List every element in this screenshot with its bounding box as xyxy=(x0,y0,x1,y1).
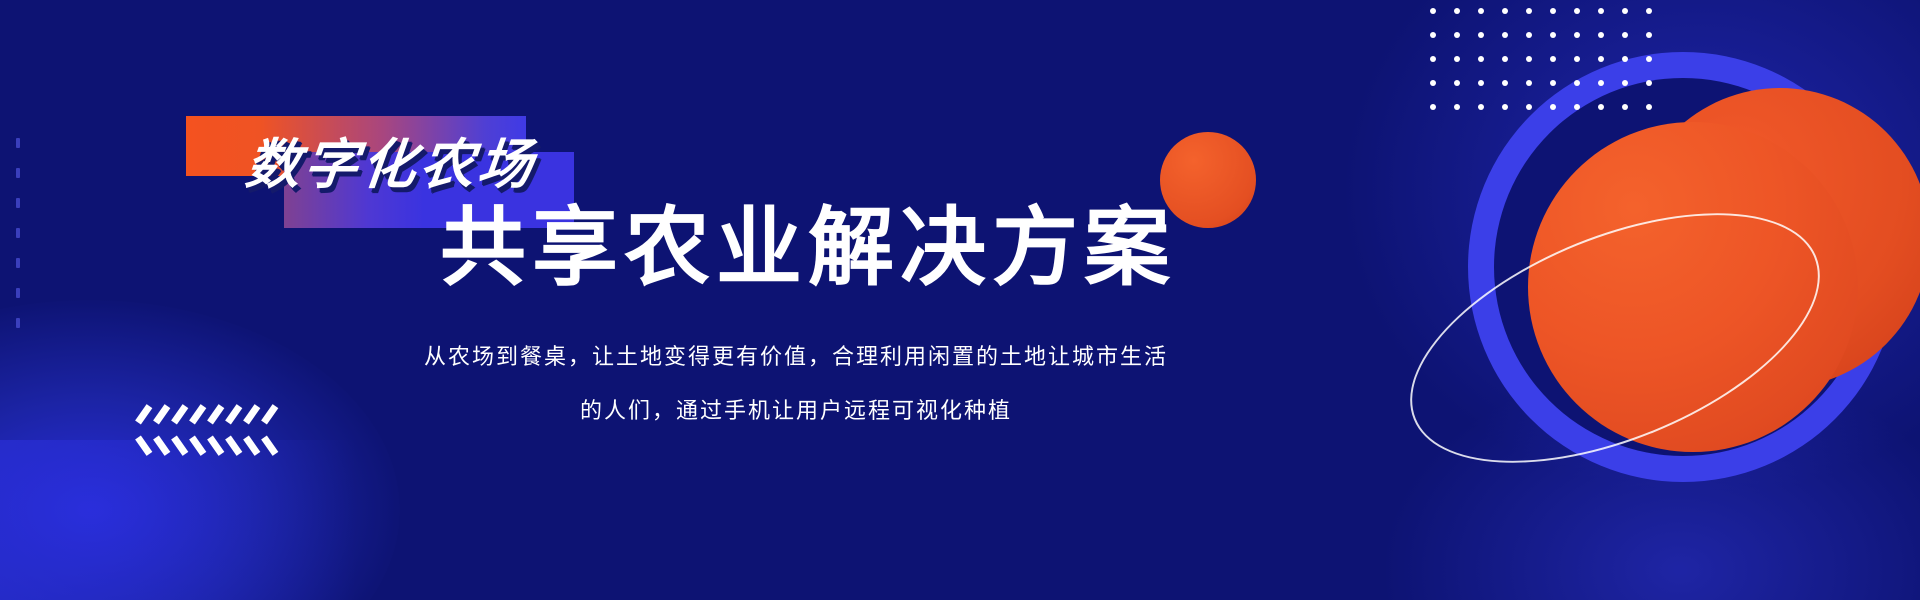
grid-dot xyxy=(1502,56,1508,62)
grid-dot xyxy=(1574,80,1580,86)
grid-dot xyxy=(1622,56,1628,62)
grid-dot xyxy=(1502,32,1508,38)
chevron-left-icon xyxy=(154,408,173,452)
grid-dot xyxy=(1502,80,1508,86)
grid-dot xyxy=(1454,56,1460,62)
double-chevron-left-icon-group xyxy=(136,408,280,452)
grid-dot xyxy=(1526,104,1532,110)
grid-dot xyxy=(1550,104,1556,110)
grid-dot xyxy=(1478,8,1484,14)
grid-dot xyxy=(1550,8,1556,14)
grid-dot xyxy=(1550,80,1556,86)
page-title: 共享农业解决方案 xyxy=(440,202,1176,295)
chevron-left-icon xyxy=(136,408,155,452)
grid-dot xyxy=(1502,104,1508,110)
tick-mark xyxy=(16,228,20,238)
grid-dot xyxy=(1598,80,1604,86)
chevron-left-icon xyxy=(172,408,191,452)
tick-mark xyxy=(16,288,20,298)
tick-mark xyxy=(16,258,20,268)
chevron-left-icon xyxy=(226,408,245,452)
tick-mark xyxy=(16,168,20,178)
grid-dot xyxy=(1502,8,1508,14)
grid-dot xyxy=(1646,104,1652,110)
chevron-left-icon xyxy=(244,408,263,452)
chevron-left-icon xyxy=(190,408,209,452)
subtitle: 从农场到餐桌，让土地变得更有价值，合理利用闲置的土地让城市生活 的人们，通过手机… xyxy=(356,330,1236,438)
grid-dot xyxy=(1622,104,1628,110)
subtitle-line-2: 的人们，通过手机让用户远程可视化种植 xyxy=(356,384,1236,438)
grid-dot xyxy=(1526,32,1532,38)
tick-mark xyxy=(16,198,20,208)
left-tick-marks xyxy=(16,138,22,348)
grid-dot xyxy=(1478,104,1484,110)
hero-banner: 数字化农场 共享农业解决方案 从农场到餐桌，让土地变得更有价值，合理利用闲置的土… xyxy=(0,0,1920,600)
grid-dot xyxy=(1454,8,1460,14)
grid-dot xyxy=(1574,56,1580,62)
grid-dot xyxy=(1454,104,1460,110)
badge-label: 数字化农场 xyxy=(243,138,609,192)
tick-mark xyxy=(16,318,20,328)
grid-dot xyxy=(1454,32,1460,38)
grid-dot xyxy=(1574,104,1580,110)
grid-dot xyxy=(1598,8,1604,14)
grid-dot xyxy=(1646,32,1652,38)
grid-dot xyxy=(1430,56,1436,62)
background-glow-bottom-left xyxy=(0,440,440,600)
grid-dot xyxy=(1430,80,1436,86)
grid-dot xyxy=(1550,32,1556,38)
grid-dot xyxy=(1430,8,1436,14)
grid-dot xyxy=(1430,32,1436,38)
grid-dot xyxy=(1478,32,1484,38)
grid-dot xyxy=(1646,56,1652,62)
chevron-left-icon xyxy=(262,408,281,452)
grid-dot xyxy=(1622,80,1628,86)
grid-dot xyxy=(1430,104,1436,110)
grid-dot xyxy=(1550,56,1556,62)
grid-dot xyxy=(1622,32,1628,38)
subtitle-line-1: 从农场到餐桌，让土地变得更有价值，合理利用闲置的土地让城市生活 xyxy=(356,330,1236,384)
grid-dot xyxy=(1598,32,1604,38)
grid-dot xyxy=(1526,56,1532,62)
grid-dot xyxy=(1622,8,1628,14)
grid-dot xyxy=(1478,56,1484,62)
grid-dot xyxy=(1598,56,1604,62)
grid-dot xyxy=(1646,8,1652,14)
grid-dot xyxy=(1598,104,1604,110)
grid-dot xyxy=(1574,32,1580,38)
grid-dot xyxy=(1574,8,1580,14)
grid-dot xyxy=(1526,8,1532,14)
grid-dot xyxy=(1646,80,1652,86)
chevron-left-icon xyxy=(208,408,227,452)
dot-grid-decoration xyxy=(1430,8,1670,128)
grid-dot xyxy=(1526,80,1532,86)
tick-mark xyxy=(16,138,20,148)
grid-dot xyxy=(1454,80,1460,86)
grid-dot xyxy=(1478,80,1484,86)
